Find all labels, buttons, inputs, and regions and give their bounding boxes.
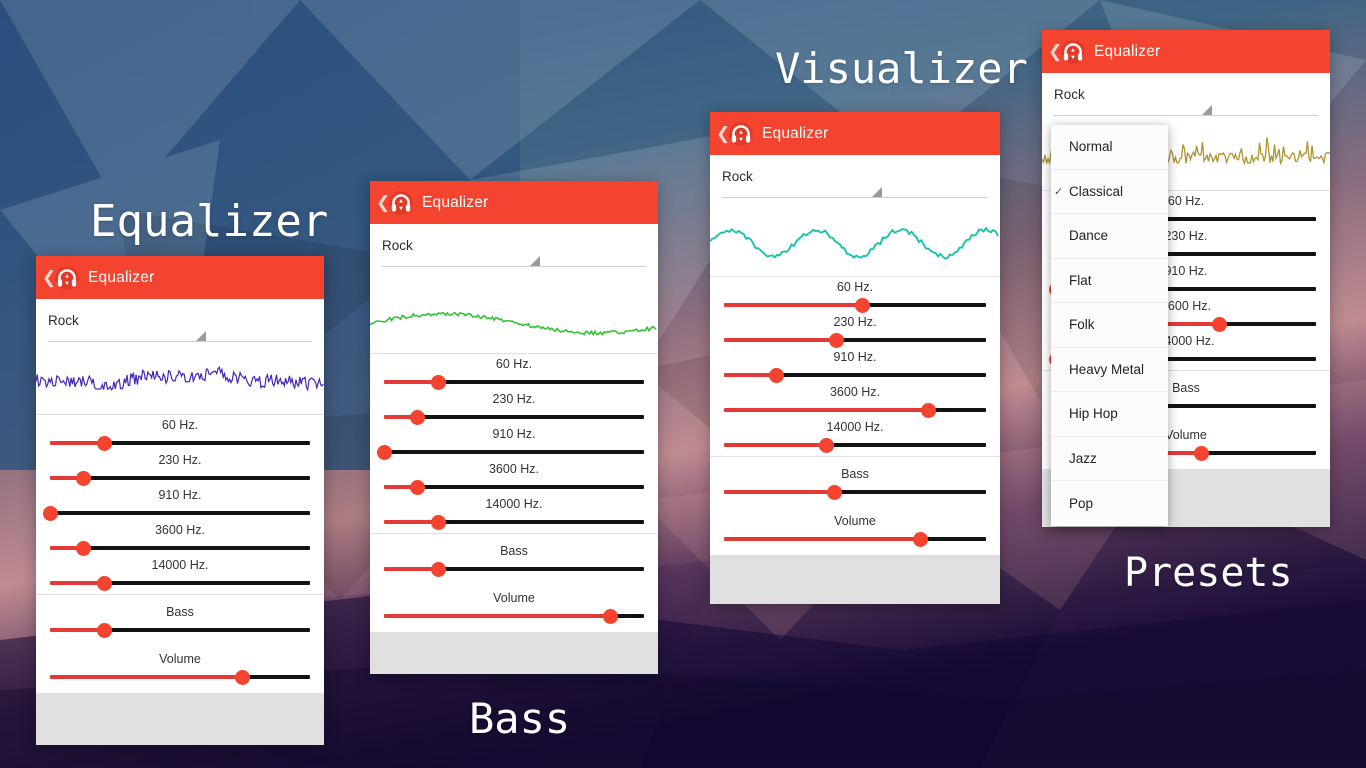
footer-strip bbox=[36, 693, 324, 745]
slider-thumb[interactable] bbox=[377, 445, 392, 460]
slider-remainder bbox=[1202, 451, 1316, 455]
preset-dropdown-menu[interactable]: Normal✓ClassicalDanceFlatFolkHeavy Metal… bbox=[1051, 125, 1168, 526]
dropdown-item[interactable]: Pop bbox=[1051, 481, 1168, 526]
slider-remainder bbox=[418, 485, 644, 489]
slider-label: Volume bbox=[384, 591, 644, 610]
extra-slider[interactable]: Volume bbox=[36, 644, 324, 691]
slider-thumb[interactable] bbox=[431, 515, 446, 530]
slider-label: Volume bbox=[50, 652, 310, 671]
slider-label: Volume bbox=[724, 514, 986, 533]
slider-remainder bbox=[84, 476, 310, 480]
phone-screen-bass: ❮ Equalizer Rock 6 bbox=[370, 181, 658, 674]
phone-screen-equalizer: ❮ Equalizer Rock 6 bbox=[36, 256, 324, 745]
slider-label: 230 Hz. bbox=[724, 315, 986, 334]
slider-track[interactable] bbox=[50, 624, 310, 636]
slider-thumb[interactable] bbox=[603, 609, 618, 624]
band-slider-group: 60 Hz.230 Hz.910 Hz.3600 Hz.14000 Hz. bbox=[36, 415, 324, 594]
dropdown-item[interactable]: Folk bbox=[1051, 303, 1168, 348]
slider-track[interactable] bbox=[724, 404, 986, 416]
band-slider-group: 60 Hz.230 Hz.910 Hz.3600 Hz.14000 Hz. bbox=[370, 354, 658, 533]
slider-track[interactable] bbox=[384, 376, 644, 388]
visualizer-waveform bbox=[370, 267, 658, 353]
slider-label: 3600 Hz. bbox=[724, 385, 986, 404]
slider-label: 3600 Hz. bbox=[50, 523, 310, 542]
dropdown-item-label: Normal bbox=[1069, 139, 1113, 154]
slider-remainder bbox=[105, 581, 310, 585]
chevron-left-icon[interactable]: ❮ bbox=[42, 268, 54, 288]
slider-remainder bbox=[84, 546, 310, 550]
app-bar-title: Equalizer bbox=[88, 269, 154, 287]
extra-slider[interactable]: Bass bbox=[710, 459, 1000, 506]
slider-remainder bbox=[439, 380, 644, 384]
slider-thumb[interactable] bbox=[431, 562, 446, 577]
slider-label: 14000 Hz. bbox=[384, 497, 644, 516]
slider-remainder bbox=[826, 443, 986, 447]
slider-track[interactable] bbox=[724, 334, 986, 346]
slider-fill bbox=[384, 614, 610, 618]
visualizer-waveform bbox=[710, 198, 1000, 276]
chevron-down-icon bbox=[872, 187, 882, 197]
slider-label: 230 Hz. bbox=[384, 392, 644, 411]
preset-spinner-value: Rock bbox=[48, 313, 312, 328]
slider-thumb[interactable] bbox=[235, 670, 250, 685]
band-slider-group: 60 Hz.230 Hz.910 Hz.3600 Hz.14000 Hz. bbox=[710, 277, 1000, 456]
slider-remainder bbox=[418, 415, 644, 419]
slider-thumb[interactable] bbox=[855, 298, 870, 313]
slider-thumb[interactable] bbox=[97, 436, 112, 451]
caption-presets: Presets bbox=[1124, 550, 1293, 596]
slider-remainder bbox=[439, 567, 644, 571]
headphones-icon bbox=[54, 265, 80, 291]
chevron-left-icon[interactable]: ❮ bbox=[376, 193, 388, 213]
slider-remainder bbox=[1220, 322, 1316, 326]
app-bar-title: Equalizer bbox=[422, 194, 488, 212]
band-slider[interactable]: 60 Hz. bbox=[710, 279, 1000, 314]
slider-label: Bass bbox=[384, 544, 644, 563]
headphones-icon bbox=[1060, 39, 1086, 65]
extra-slider[interactable]: Volume bbox=[710, 506, 1000, 553]
band-slider[interactable]: 14000 Hz. bbox=[370, 496, 658, 531]
chevron-down-icon bbox=[1202, 105, 1212, 115]
footer-strip bbox=[710, 555, 1000, 604]
slider-fill bbox=[724, 303, 863, 307]
band-slider[interactable]: 3600 Hz. bbox=[36, 522, 324, 557]
dropdown-item[interactable]: Dance bbox=[1051, 214, 1168, 259]
band-slider[interactable]: 3600 Hz. bbox=[370, 461, 658, 496]
slider-track[interactable] bbox=[384, 411, 644, 423]
preset-spinner[interactable]: Rock bbox=[1042, 73, 1330, 116]
preset-spinner-value: Rock bbox=[1054, 87, 1318, 102]
chevron-left-icon[interactable]: ❮ bbox=[716, 124, 728, 144]
slider-thumb[interactable] bbox=[76, 471, 91, 486]
slider-track[interactable] bbox=[50, 437, 310, 449]
preset-spinner-value: Rock bbox=[382, 238, 646, 253]
dropdown-item[interactable]: Hip Hop bbox=[1051, 392, 1168, 437]
slider-track[interactable] bbox=[724, 299, 986, 311]
app-bar: ❮ Equalizer bbox=[710, 112, 1000, 155]
slider-track[interactable] bbox=[384, 610, 644, 622]
slider-thumb[interactable] bbox=[97, 623, 112, 638]
slider-remainder bbox=[834, 490, 986, 494]
chevron-down-icon bbox=[530, 256, 540, 266]
slider-remainder bbox=[921, 537, 987, 541]
band-slider[interactable]: 910 Hz. bbox=[710, 349, 1000, 384]
slider-label: 3600 Hz. bbox=[384, 462, 644, 481]
slider-label: 910 Hz. bbox=[384, 427, 644, 446]
slider-label: 910 Hz. bbox=[724, 350, 986, 369]
slider-remainder bbox=[50, 511, 310, 515]
dropdown-item-label: Jazz bbox=[1069, 451, 1097, 466]
headphones-icon bbox=[728, 121, 754, 147]
dropdown-item-label: Heavy Metal bbox=[1069, 362, 1144, 377]
preset-spinner-value: Rock bbox=[722, 169, 988, 184]
slider-fill bbox=[724, 537, 921, 541]
dropdown-item[interactable]: Heavy Metal bbox=[1051, 348, 1168, 393]
slider-label: 60 Hz. bbox=[50, 418, 310, 437]
phone-screen-visualizer: ❮ Equalizer Rock 6 bbox=[710, 112, 1000, 604]
footer-strip bbox=[370, 632, 658, 674]
band-slider[interactable]: 910 Hz. bbox=[370, 426, 658, 461]
extra-slider[interactable]: Bass bbox=[370, 536, 658, 583]
slider-track[interactable] bbox=[50, 507, 310, 519]
slider-track[interactable] bbox=[384, 516, 644, 528]
chevron-left-icon[interactable]: ❮ bbox=[1048, 42, 1060, 62]
preset-spinner[interactable]: Rock bbox=[36, 299, 324, 342]
caption-bass: Bass bbox=[469, 694, 570, 743]
band-slider[interactable]: 60 Hz. bbox=[36, 417, 324, 452]
slider-remainder bbox=[776, 373, 986, 377]
caption-equalizer: Equalizer bbox=[90, 196, 328, 247]
band-slider[interactable]: 14000 Hz. bbox=[710, 419, 1000, 454]
band-slider[interactable]: 230 Hz. bbox=[370, 391, 658, 426]
slider-fill bbox=[724, 443, 826, 447]
slider-label: 230 Hz. bbox=[50, 453, 310, 472]
app-bar: ❮ Equalizer bbox=[1042, 30, 1330, 73]
caption-visualizer: Visualizer bbox=[775, 44, 1028, 93]
slider-remainder bbox=[384, 450, 644, 454]
dropdown-item[interactable]: Flat bbox=[1051, 259, 1168, 304]
slider-remainder bbox=[242, 675, 310, 679]
dropdown-item-label: Hip Hop bbox=[1069, 406, 1118, 421]
slider-fill bbox=[724, 408, 928, 412]
app-bar: ❮ Equalizer bbox=[370, 181, 658, 224]
slider-track[interactable] bbox=[50, 577, 310, 589]
check-icon: ✓ bbox=[1054, 185, 1063, 198]
band-slider[interactable]: 60 Hz. bbox=[370, 356, 658, 391]
slider-label: 60 Hz. bbox=[724, 280, 986, 299]
dropdown-item-label: Folk bbox=[1069, 317, 1095, 332]
slider-remainder bbox=[928, 408, 986, 412]
slider-thumb[interactable] bbox=[76, 541, 91, 556]
slider-thumb[interactable] bbox=[921, 403, 936, 418]
slider-remainder bbox=[837, 338, 986, 342]
app-bar: ❮ Equalizer bbox=[36, 256, 324, 299]
dropdown-item-label: Dance bbox=[1069, 228, 1108, 243]
dropdown-item-label: Classical bbox=[1069, 184, 1123, 199]
slider-track[interactable] bbox=[384, 563, 644, 575]
slider-fill bbox=[50, 675, 242, 679]
slider-label: 60 Hz. bbox=[384, 357, 644, 376]
slider-thumb[interactable] bbox=[1212, 317, 1227, 332]
slider-fill bbox=[724, 490, 834, 494]
slider-label: 14000 Hz. bbox=[50, 558, 310, 577]
slider-track[interactable] bbox=[50, 671, 310, 683]
slider-track[interactable] bbox=[724, 486, 986, 498]
slider-thumb[interactable] bbox=[97, 576, 112, 591]
slider-label: 910 Hz. bbox=[50, 488, 310, 507]
band-slider[interactable]: 3600 Hz. bbox=[710, 384, 1000, 419]
dropdown-item-label: Flat bbox=[1069, 273, 1092, 288]
slider-label: Bass bbox=[724, 467, 986, 486]
slider-track[interactable] bbox=[384, 481, 644, 493]
dropdown-item[interactable]: ✓Classical bbox=[1051, 170, 1168, 215]
extra-slider[interactable]: Volume bbox=[370, 583, 658, 630]
slider-thumb[interactable] bbox=[819, 438, 834, 453]
extra-slider-group: BassVolume bbox=[710, 457, 1000, 555]
slider-thumb[interactable] bbox=[769, 368, 784, 383]
slider-remainder bbox=[105, 628, 310, 632]
slider-label: Bass bbox=[50, 605, 310, 624]
slider-label: 14000 Hz. bbox=[724, 420, 986, 439]
band-slider[interactable]: 230 Hz. bbox=[36, 452, 324, 487]
slider-track[interactable] bbox=[384, 446, 644, 458]
preset-spinner[interactable]: Rock bbox=[370, 224, 658, 267]
slider-thumb[interactable] bbox=[827, 485, 842, 500]
chevron-down-icon bbox=[196, 331, 206, 341]
spinner-underline bbox=[722, 197, 988, 198]
slider-track[interactable] bbox=[724, 369, 986, 381]
spinner-underline bbox=[382, 266, 646, 267]
slider-remainder bbox=[105, 441, 310, 445]
band-slider[interactable]: 910 Hz. bbox=[36, 487, 324, 522]
slider-track[interactable] bbox=[50, 472, 310, 484]
slider-fill bbox=[724, 338, 837, 342]
dropdown-item[interactable]: Jazz bbox=[1051, 437, 1168, 482]
app-bar-title: Equalizer bbox=[1094, 43, 1160, 61]
dropdown-item-label: Pop bbox=[1069, 496, 1093, 511]
slider-thumb[interactable] bbox=[913, 532, 928, 547]
slider-thumb[interactable] bbox=[431, 375, 446, 390]
visualizer-waveform bbox=[36, 342, 324, 414]
slider-remainder bbox=[439, 520, 644, 524]
extra-slider-group: BassVolume bbox=[36, 595, 324, 693]
slider-thumb[interactable] bbox=[410, 410, 425, 425]
spinner-underline bbox=[1054, 115, 1318, 116]
slider-thumb[interactable] bbox=[1194, 446, 1209, 461]
extra-slider-group: BassVolume bbox=[370, 534, 658, 632]
slider-thumb[interactable] bbox=[829, 333, 844, 348]
slider-track[interactable] bbox=[724, 533, 986, 545]
extra-slider[interactable]: Bass bbox=[36, 597, 324, 644]
spinner-underline bbox=[48, 341, 312, 342]
dropdown-item[interactable]: Normal bbox=[1051, 125, 1168, 170]
slider-track[interactable] bbox=[724, 439, 986, 451]
slider-remainder bbox=[863, 303, 986, 307]
slider-thumb[interactable] bbox=[43, 506, 58, 521]
slider-thumb[interactable] bbox=[410, 480, 425, 495]
slider-track[interactable] bbox=[50, 542, 310, 554]
headphones-icon bbox=[388, 190, 414, 216]
band-slider[interactable]: 14000 Hz. bbox=[36, 557, 324, 592]
app-bar-title: Equalizer bbox=[762, 125, 828, 143]
band-slider[interactable]: 230 Hz. bbox=[710, 314, 1000, 349]
preset-spinner[interactable]: Rock bbox=[710, 155, 1000, 198]
